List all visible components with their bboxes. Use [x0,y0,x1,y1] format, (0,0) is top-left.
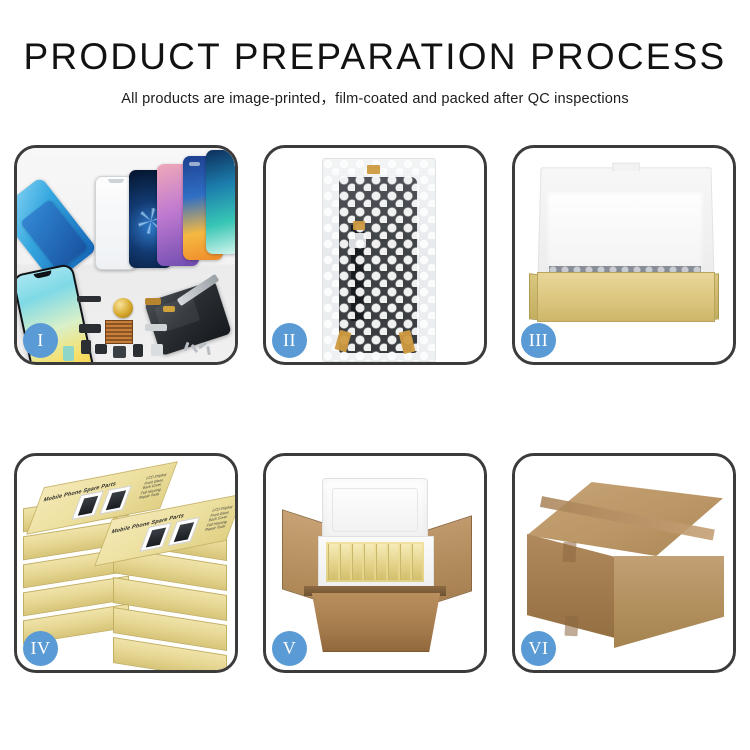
punch-hole-camera [189,162,200,166]
process-step-card-3[interactable]: III [512,145,736,365]
carton-side-face [614,556,724,648]
spare-part-bracket [151,344,163,356]
notch-shape [108,179,124,183]
box-checklist: LCD Display Front Glass Back Cover Full … [204,505,233,534]
step-badge-4: IV [23,631,58,666]
step-badge-1: I [23,323,58,358]
lid-tab [612,163,640,172]
box-checklist: LCD Display Front Glass Back Cover Full … [138,472,167,501]
process-step-card-4[interactable]: Mobile Phone Spare Parts LCD Display Fro… [14,453,238,673]
process-step-card-2[interactable]: II [263,145,487,365]
loose-screws [183,340,213,356]
yellow-boxes-inside [326,542,424,582]
teal-curved-lcd [206,150,235,254]
page-title: PRODUCT PREPARATION PROCESS [0,0,750,77]
spare-part-gold-clip [163,306,175,312]
spare-part-ribbon [145,324,167,331]
logic-board-chip [105,320,133,344]
gold-vibration-motor [113,298,133,318]
page-subtitle: All products are image-printed，film-coat… [0,77,750,108]
spare-part-connector [77,296,101,302]
styrofoam-lid [322,478,428,542]
bubble-wrap-bag [322,158,436,362]
tape-strip-top [367,165,380,174]
white-foam-sheet [547,192,703,268]
process-step-card-6[interactable]: VI [512,453,736,673]
spare-part-flex-cable [79,324,101,333]
spare-part-sim-tray [133,344,143,357]
spare-part-button [81,340,91,354]
process-step-grid: I II III [14,145,736,673]
carton-body [306,592,446,652]
process-step-card-5[interactable]: V [263,453,487,673]
step-badge-6: VI [521,631,556,666]
spare-part-battery [63,346,74,361]
carton-tape-upper [562,542,576,563]
page-header: PRODUCT PREPARATION PROCESS All products… [0,0,750,128]
kraft-box-body [537,272,715,322]
step-badge-2: II [272,323,307,358]
spare-part-camera-module [113,346,126,358]
tape-strip-middle [353,221,365,230]
process-step-card-1[interactable]: I [14,145,238,365]
step-badge-5: V [272,631,307,666]
spare-part-speaker [95,344,107,354]
spare-part-gold-bracket [145,298,161,305]
carton-tape-lower [564,616,578,637]
step-badge-3: III [521,323,556,358]
